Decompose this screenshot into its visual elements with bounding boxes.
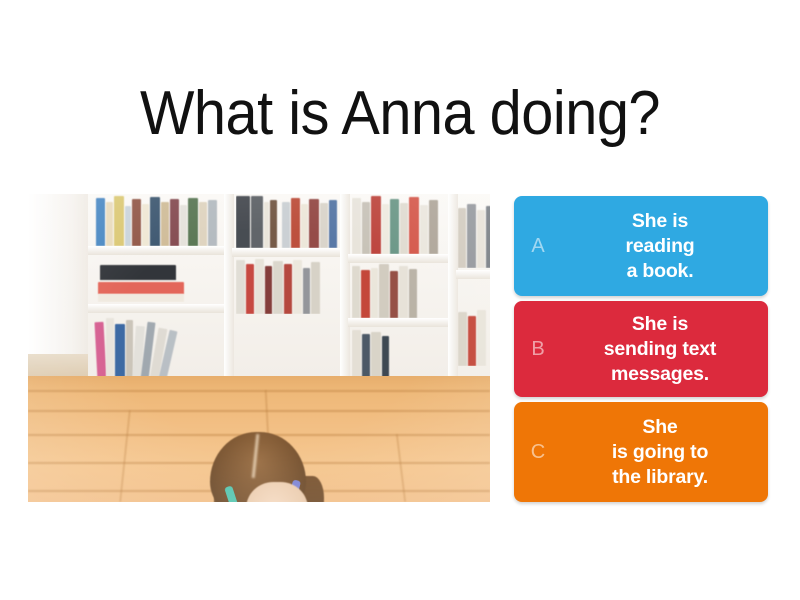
shelf-books-a3 [94, 312, 222, 380]
shelf-books-a2 [94, 254, 222, 302]
shelf-books-c2 [352, 262, 446, 318]
answer-option-a[interactable]: A She is reading a book. [514, 196, 768, 296]
answer-text-b: She is sending text messages. [562, 312, 768, 387]
question-image [28, 194, 490, 502]
shelf-books-d2 [458, 306, 490, 366]
answer-option-b[interactable]: B She is sending text messages. [514, 301, 768, 397]
answer-letter-a: A [514, 236, 562, 256]
answer-option-c[interactable]: C She is going to the library. [514, 402, 768, 502]
bookcase-stile [448, 194, 458, 380]
answer-text-c: She is going to the library. [562, 415, 768, 490]
shelf-books-d1 [458, 202, 490, 268]
wall-left-panel [28, 194, 90, 380]
bookcase-stile [224, 194, 234, 380]
answer-letter-b: B [514, 339, 562, 359]
page-title: What is Anna doing? [28, 78, 772, 150]
answer-text-a: She is reading a book. [562, 209, 768, 284]
answer-options-list: A She is reading a book. B She is sendin… [514, 196, 768, 502]
shelf-books-b1 [236, 194, 338, 248]
shelf-books-c1 [352, 194, 446, 254]
shelf-books-c3 [352, 326, 446, 380]
shelf-books-a1 [94, 194, 222, 246]
answer-letter-c: C [514, 442, 562, 462]
shelf-divider [456, 270, 490, 279]
shelf-books-b2 [236, 256, 338, 314]
bookcase-stile [340, 194, 350, 380]
